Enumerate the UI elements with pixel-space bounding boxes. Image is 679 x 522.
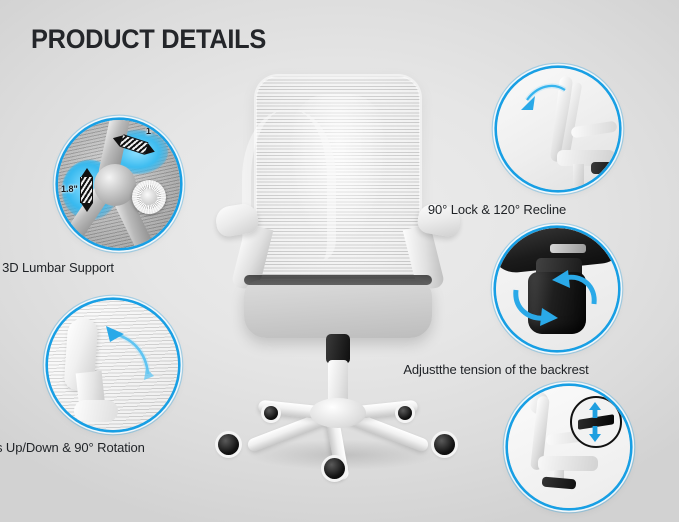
armrest-rotation-icon [48,300,178,430]
lumbar-adjust-knob [132,180,166,214]
page-title: PRODUCT DETAILS [31,24,266,55]
callout-ring-height [508,386,630,508]
recline-arrow-icon [513,80,575,130]
lumbar-hub [94,164,136,206]
product-details-infographic: PRODUCT DETAILS [0,0,679,522]
measure-label-vertical: 1.8" [61,184,78,194]
backrest-outer-frame [254,74,422,290]
callout-ring-armrests [48,300,178,430]
measure-arrow-vertical [80,168,93,212]
tension-plate [550,244,586,253]
recline-stem [573,164,584,186]
base-center-hub [310,398,366,428]
height-inset-circle [570,396,622,448]
tension-knob-icon [496,228,618,350]
lumbar-mechanism-icon: 1.8" 1" [58,120,180,248]
caster-wheel [264,406,278,420]
tension-arrow-right-icon [546,270,598,312]
caster-wheel [324,458,345,479]
callout-caption-armrests: Armrests Up/Down & 90° Rotation [0,440,145,455]
up-down-arrow-icon [588,402,602,442]
measure-label-horizontal: 1" [146,126,155,136]
rotation-arrow-icon [102,320,162,382]
caster-wheel [434,434,455,455]
height-seat [538,456,598,471]
recline-mechanism [591,162,617,174]
chair-seat-cushion [244,280,432,338]
callout-ring-lumbar: 1.8" 1" [58,120,180,248]
caster-wheel [398,406,412,420]
product-image-office-chair [198,76,478,486]
seat-height-icon [508,386,630,508]
caster-wheel [218,434,239,455]
callout-caption-lumbar: 3D Lumbar Support [2,260,114,275]
height-mechanism [542,477,577,490]
callout-caption-recline: 90° Lock & 120° Recline [428,202,566,217]
armrest-base-detail [74,400,118,422]
callout-ring-recline [497,68,619,190]
recline-armrest [570,120,617,138]
callout-caption-tension: Adjustthe tension of the backrest [403,362,588,377]
callout-ring-tension [496,228,618,350]
chair-recline-icon [497,68,619,190]
